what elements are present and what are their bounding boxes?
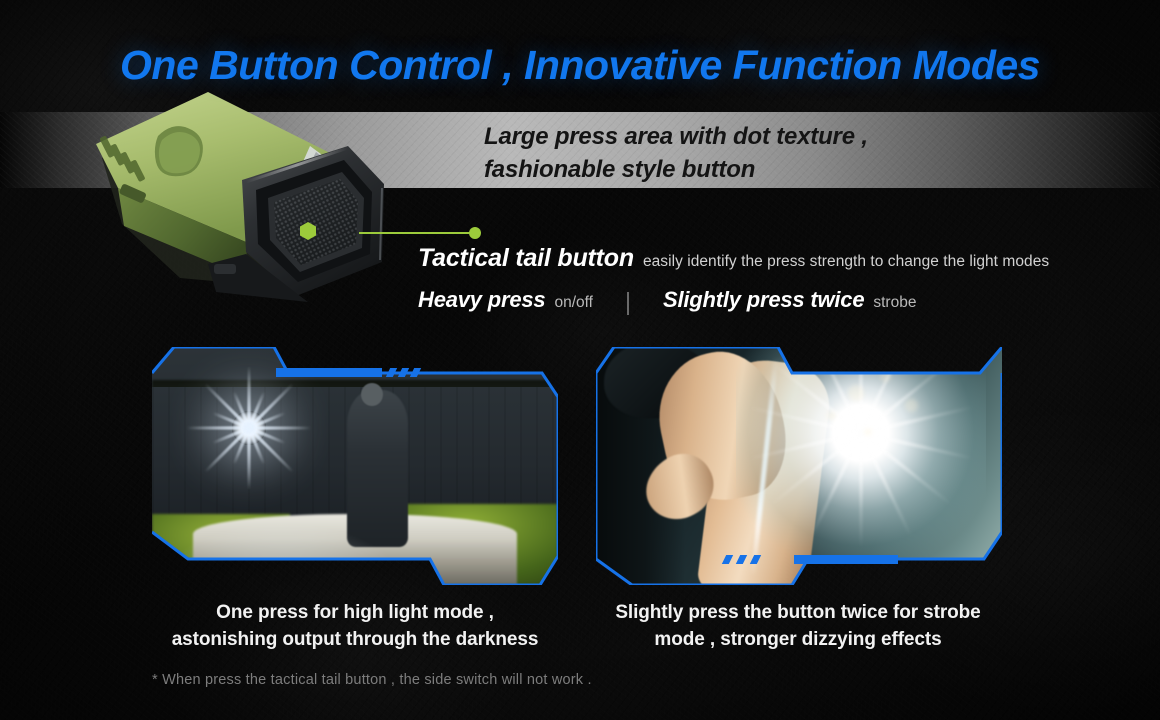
spec-label: Tactical tail button [418, 244, 634, 273]
press-mode-label-0: Heavy press [418, 287, 545, 313]
banner-heading: Large press area with dot texture , fash… [484, 120, 1044, 186]
caption-left-line-1: One press for high light mode , [145, 600, 565, 627]
press-mode-value-1: strobe [873, 294, 916, 312]
banner-line-1: Large press area with dot texture , [484, 120, 1044, 153]
press-modes-divider [627, 292, 629, 315]
press-mode-value-0: on/off [554, 294, 593, 312]
flashlight-product-image [96, 92, 456, 302]
callout-hex-marker [300, 222, 316, 240]
night-scene-photo [152, 347, 558, 585]
strobe-scene-photo [596, 347, 1002, 585]
photo-panel-high-light [152, 347, 558, 585]
banner-line-2: fashionable style button [484, 153, 1044, 186]
caption-strobe: Slightly press the button twice for stro… [588, 600, 1008, 654]
photo-frame-right [596, 347, 1002, 585]
caption-right-line-2: mode , stronger dizzying effects [588, 627, 1008, 654]
spec-description: easily identify the press strength to ch… [643, 253, 1049, 271]
press-mode-label-1: Slightly press twice [663, 287, 864, 313]
caption-right-line-1: Slightly press the button twice for stro… [588, 600, 1008, 627]
footnote: * When press the tactical tail button , … [152, 672, 592, 688]
caption-left-line-2: astonishing output through the darkness [145, 627, 565, 654]
press-modes-row: Heavy press on/off Slightly press twice … [418, 287, 916, 313]
callout-leader-line [359, 227, 481, 239]
photo-panel-strobe [596, 347, 1002, 585]
photo-frame-left [152, 347, 558, 585]
frame-accent-bar-right [794, 555, 898, 564]
page-title: One Button Control , Innovative Function… [0, 42, 1160, 89]
callout-dot [469, 227, 481, 239]
caption-high-light: One press for high light mode , astonish… [145, 600, 565, 654]
tactical-tail-button-spec: Tactical tail button easily identify the… [418, 244, 1049, 273]
frame-accent-bar-left [276, 368, 382, 377]
